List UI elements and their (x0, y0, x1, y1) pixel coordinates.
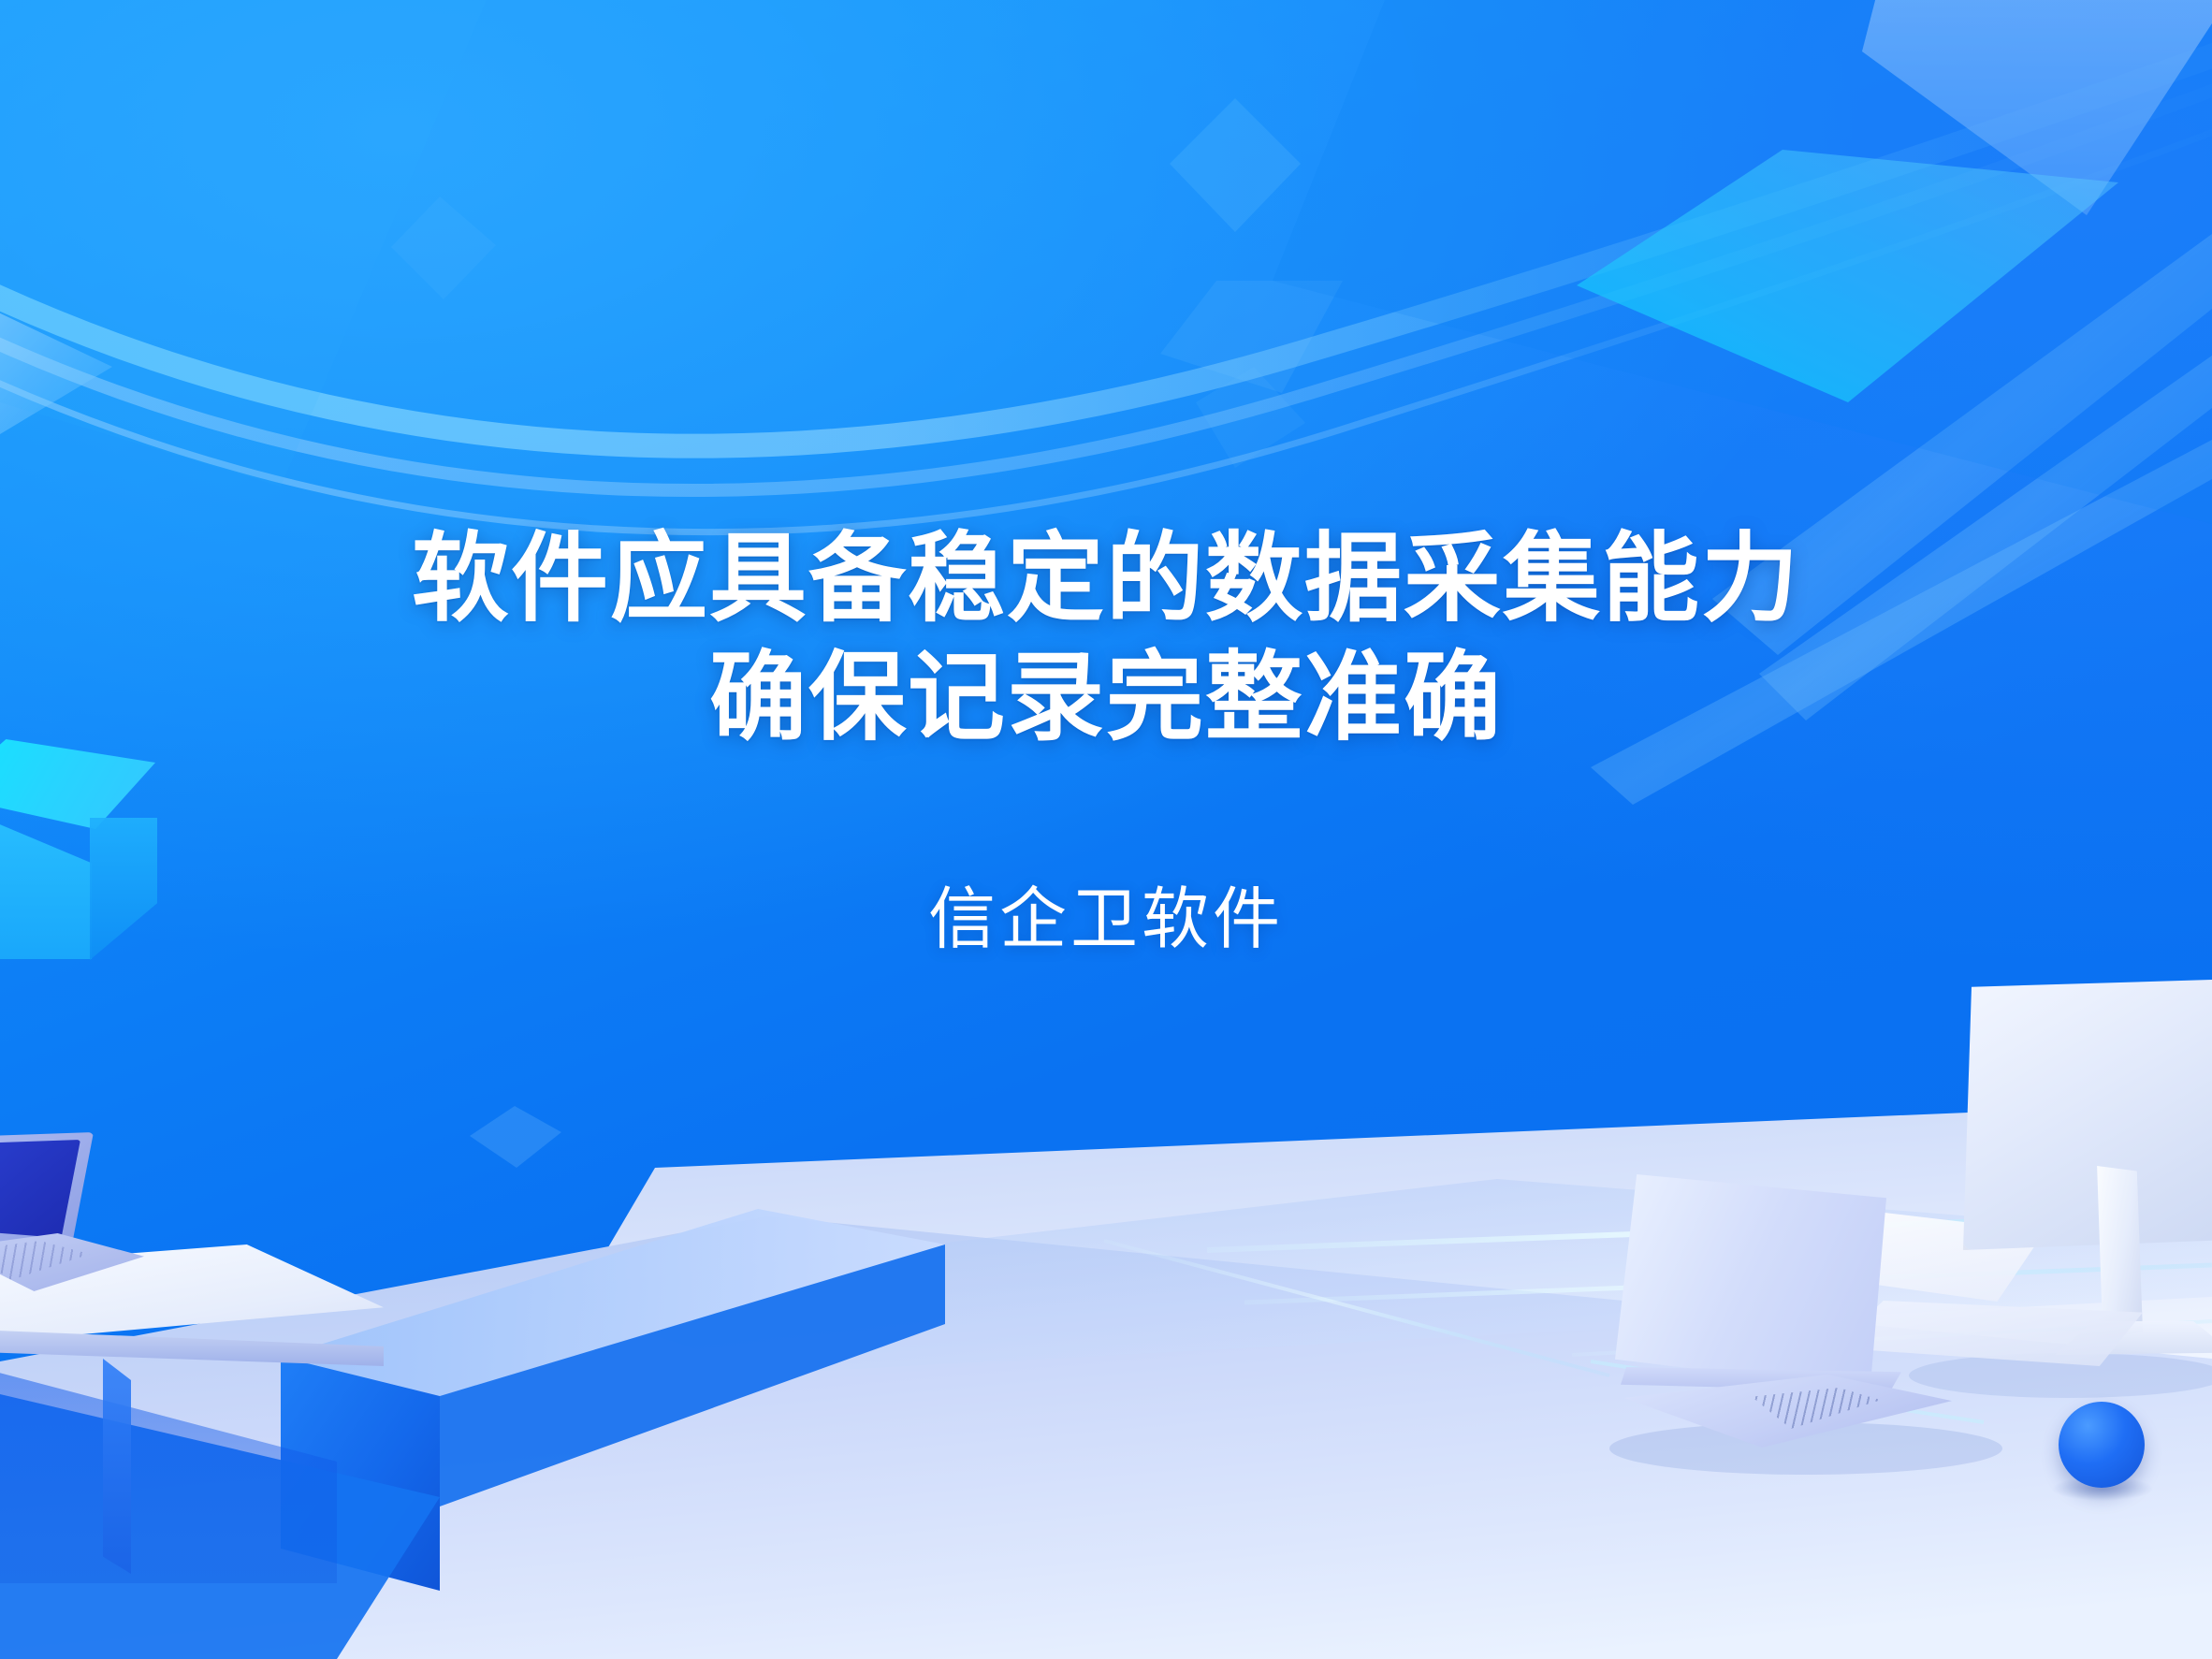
monitor-screen-back (1963, 979, 2212, 1250)
left-laptop (0, 1132, 178, 1301)
slide-text-block: 软件应具备稳定的数据采集能力 确保记录完整准确 信企卫软件 (0, 520, 2212, 962)
desk-leg (103, 1359, 131, 1574)
slide-canvas: 软件应具备稳定的数据采集能力 确保记录完整准确 信企卫软件 (0, 0, 2212, 1659)
page-title: 软件应具备稳定的数据采集能力 确保记录完整准确 (0, 520, 2212, 758)
white-desk (0, 1244, 421, 1659)
blue-sphere (2059, 1402, 2145, 1488)
right-laptop (1600, 1174, 1993, 1455)
desk-underside (0, 1349, 337, 1583)
slide-subtitle: 信企卫软件 (0, 878, 2212, 962)
right-laptop-lid (1615, 1174, 1886, 1390)
